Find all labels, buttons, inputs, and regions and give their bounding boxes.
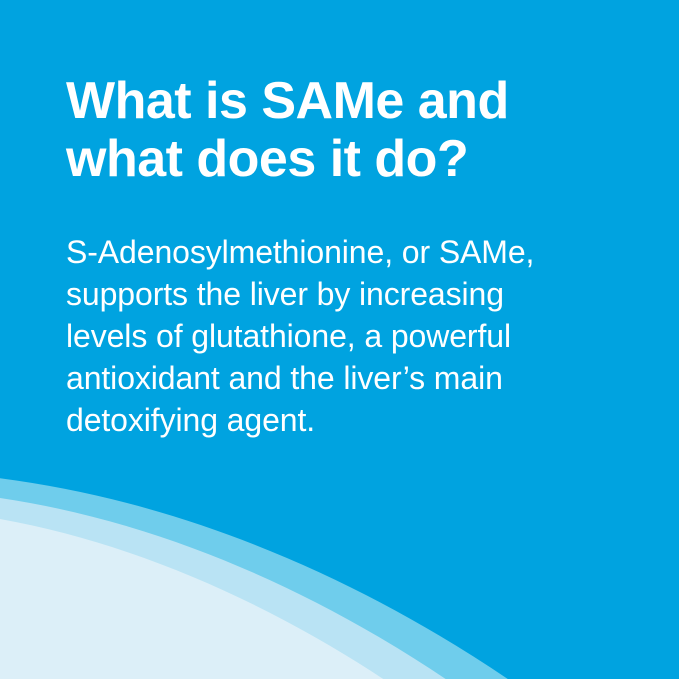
arc-band-middle	[0, 493, 476, 679]
arc-band-outer	[0, 474, 538, 679]
info-card: What is SAMe and what does it do? S-Aden…	[0, 0, 679, 679]
page-title: What is SAMe and what does it do?	[66, 72, 626, 188]
body-copy: S-Adenosylmethionine, or SAMe, supports …	[66, 232, 628, 442]
arc-band-inner	[0, 513, 414, 679]
